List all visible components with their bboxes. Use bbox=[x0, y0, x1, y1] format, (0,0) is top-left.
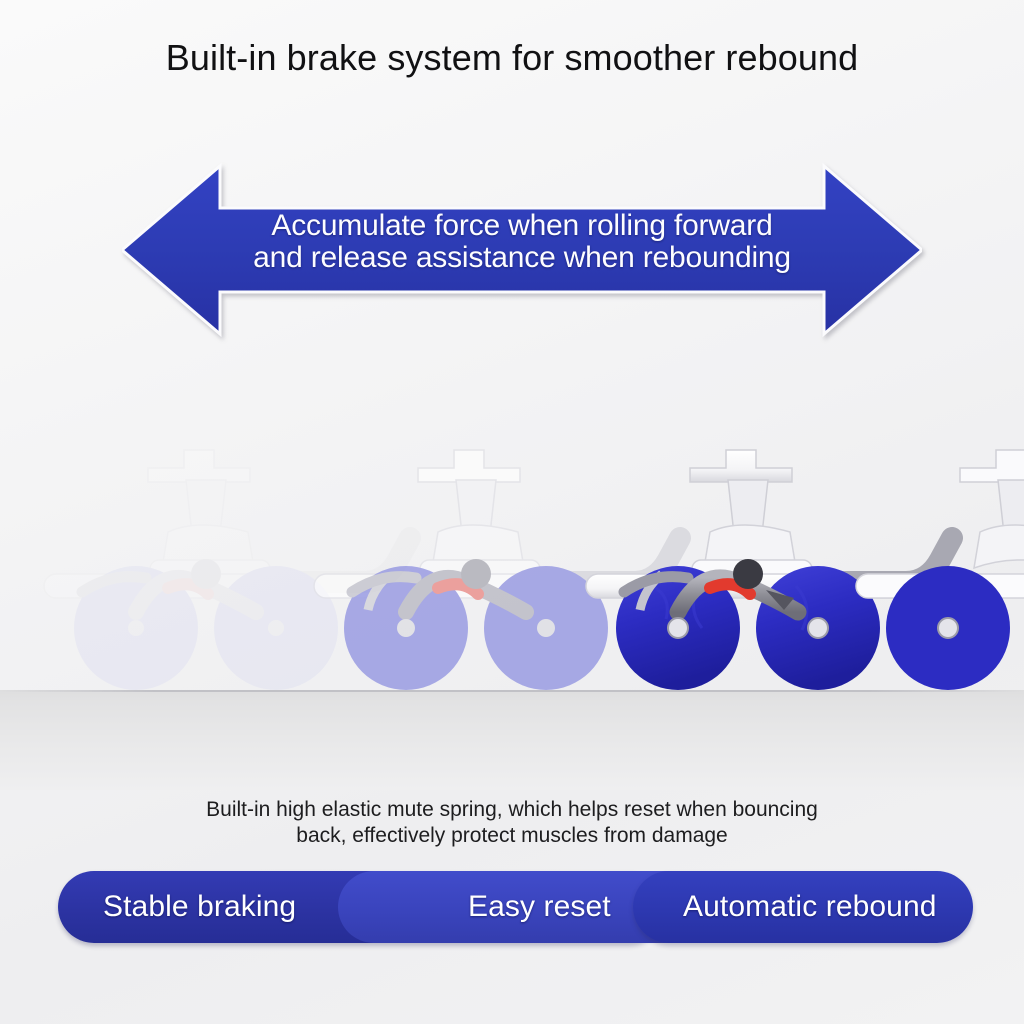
feature-pill-label: Stable braking bbox=[103, 890, 296, 924]
ab-roller-icon bbox=[830, 360, 1024, 690]
feature-pill-label: Easy reset bbox=[468, 890, 611, 924]
arrow-caption-line2: and release assistance when rebounding bbox=[122, 242, 922, 274]
product-feature-graphic: Built-in brake system for smoother rebou… bbox=[0, 0, 1024, 1024]
caption-line1: Built-in high elastic mute spring, which… bbox=[206, 798, 818, 821]
arrow-caption: Accumulate force when rolling forward an… bbox=[122, 210, 922, 274]
caption-line2: back, effectively protect muscles from d… bbox=[0, 823, 1024, 849]
floor-surface bbox=[0, 690, 1024, 790]
feature-pill-label: Automatic rebound bbox=[683, 890, 937, 924]
product-caption: Built-in high elastic mute spring, which… bbox=[0, 797, 1024, 849]
arrow-caption-line1: Accumulate force when rolling forward bbox=[271, 209, 772, 242]
floor-horizon-line bbox=[0, 690, 1024, 692]
page-title: Built-in brake system for smoother rebou… bbox=[0, 36, 1024, 79]
product-photo bbox=[0, 360, 1024, 790]
arrow-banner: Accumulate force when rolling forward an… bbox=[122, 160, 922, 340]
ab-roller-current-right bbox=[830, 360, 1024, 690]
feature-pill-automatic-rebound[interactable]: Automatic rebound bbox=[633, 871, 973, 943]
feature-pill-group: Stable braking Easy reset Automatic rebo… bbox=[58, 871, 973, 943]
